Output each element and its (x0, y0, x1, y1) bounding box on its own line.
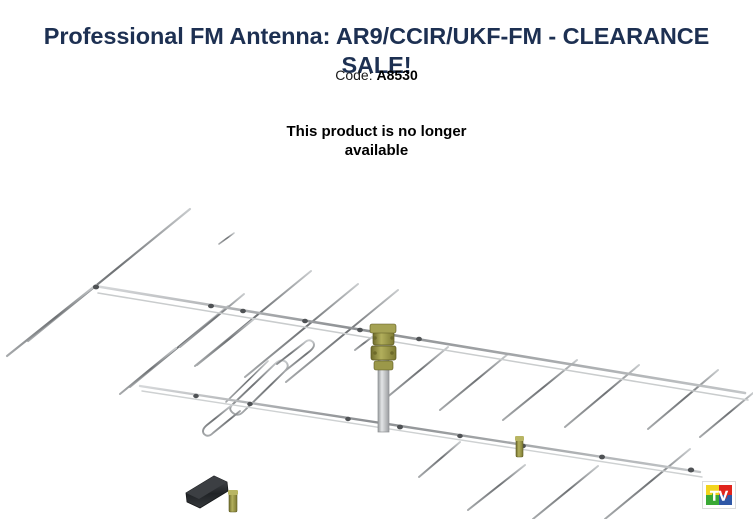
product-page: Professional FM Antenna: AR9/CCIR/UKF-FM… (0, 0, 753, 519)
availability-message: This product is no longer available (0, 122, 753, 160)
brass-clip-small (228, 490, 238, 512)
fm-yagi-antenna-illustration (0, 180, 753, 519)
brass-clip-right (515, 436, 524, 457)
tv-logo-text: TV (710, 488, 729, 504)
product-code: Code: A8530 (0, 66, 753, 84)
product-code-value: A8530 (376, 67, 417, 83)
product-code-label: Code: (335, 67, 372, 83)
availability-message-line1: This product is no longer (287, 123, 467, 140)
tv-watermark-logo: TV (702, 481, 736, 509)
tv-logo-icon: TV (702, 481, 736, 509)
product-image (0, 180, 753, 519)
availability-message-line2: available (0, 141, 753, 160)
